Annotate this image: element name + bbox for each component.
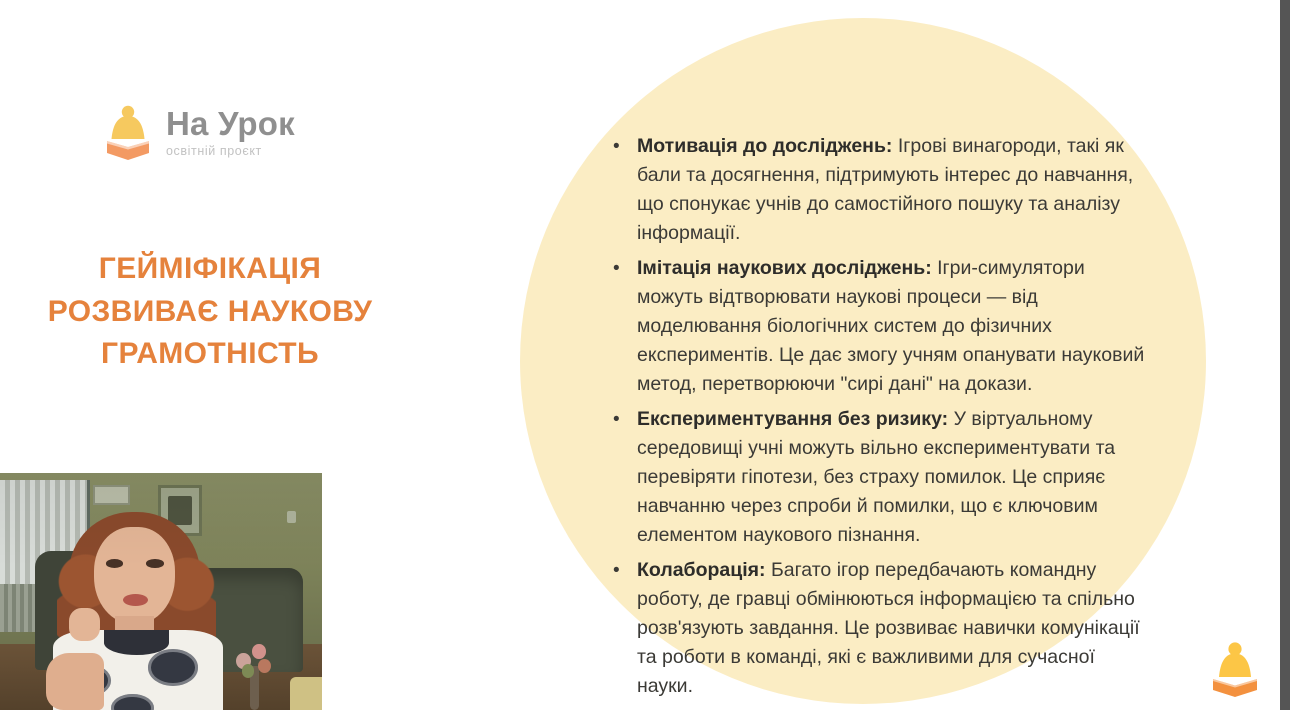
bullet-text: Мотивація до досліджень: Ігрові винагоро… [637,132,1150,248]
bullet-text: Імітація наукових досліджень: Ігри-симул… [637,254,1150,399]
brand-logo: На Урок освітній проєкт [100,103,295,161]
wall-vent [93,485,129,506]
bullet-list: • Мотивація до досліджень: Ігрові винаго… [610,132,1150,707]
flower-vase [232,637,277,710]
list-item: • Мотивація до досліджень: Ігрові винаго… [610,132,1150,248]
window-edge-strip [1280,0,1290,710]
bullet-marker-icon: • [610,556,637,585]
flower-bloom [252,644,266,659]
brand-name: На Урок [166,107,295,140]
lips [123,594,148,606]
bell-book-logo-icon [100,103,156,161]
flower-bloom [242,664,255,677]
flower-bloom [258,659,272,674]
bullet-marker-icon: • [610,132,637,161]
slide-title: ГЕЙМІФІКАЦІЯ РОЗВИВАЄ НАУКОВУ ГРАМОТНІСТ… [10,248,410,376]
slide-title-line-1: ГЕЙМІФІКАЦІЯ [10,248,410,291]
bullet-lead: Колаборація: [637,559,766,581]
bullet-marker-icon: • [610,405,637,434]
bullet-text: Колаборація: Багато ігор передбачають ко… [637,556,1150,701]
list-item: • Колаборація: Багато ігор передбачають … [610,556,1150,701]
webcam-scene [0,473,322,710]
list-item: • Імітація наукових досліджень: Ігри-сим… [610,254,1150,399]
face [94,527,175,625]
list-item: • Експериментування без ризику: У віртуа… [610,405,1150,550]
bullet-lead: Мотивація до досліджень: [637,135,892,157]
presenter-webcam-video[interactable] [0,473,322,710]
bullet-lead: Імітація наукових досліджень: [637,257,932,279]
bell-book-logo-icon [1208,640,1262,698]
eye-right [146,559,163,568]
basket [290,677,322,710]
eye-left [106,559,123,568]
bullet-lead: Експериментування без ризику: [637,408,948,430]
brand-wordmark: На Урок освітній проєкт [166,107,295,158]
presenter-figure [42,506,235,710]
bullet-text: Експериментування без ризику: У віртуаль… [637,405,1150,550]
slide-title-line-3: ГРАМОТНІСТЬ [10,333,410,376]
brand-tagline: освітній проєкт [166,145,295,158]
presentation-slide: На Урок освітній проєкт ГЕЙМІФІКАЦІЯ РОЗ… [0,0,1290,710]
blouse-rose-print [148,649,198,686]
wall-switch [287,511,297,523]
slide-title-line-2: РОЗВИВАЄ НАУКОВУ [10,291,410,334]
hand [69,608,100,641]
raised-arm [46,653,104,710]
bullet-marker-icon: • [610,254,637,283]
